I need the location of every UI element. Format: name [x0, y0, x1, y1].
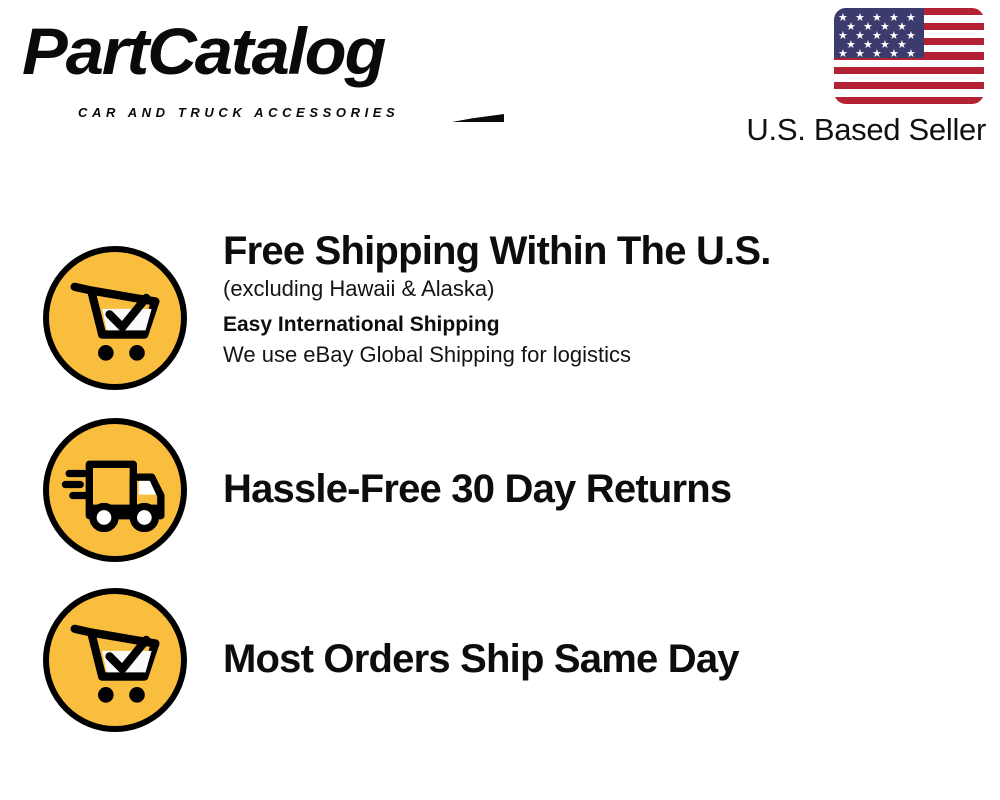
brand-logo-wordmark: PartCatalog: [22, 18, 511, 84]
us-flag-icon: ★ ★ ★ ★ ★ ★ ★ ★ ★ ★ ★ ★ ★ ★ ★ ★ ★: [834, 8, 984, 104]
feature-text-same-day-ship: Most Orders Ship Same Day: [223, 636, 983, 682]
brand-logo-tagline: CAR AND TRUCK ACCESSORIES: [78, 106, 399, 119]
feature-heading: Hassle-Free 30 Day Returns: [223, 466, 983, 512]
feature-text-returns: Hassle-Free 30 Day Returns: [223, 466, 983, 512]
brand-logo[interactable]: PartCatalog CAR AND TRUCK ACCESSORIES: [22, 18, 492, 118]
feature-item-returns: Hassle-Free 30 Day Returns: [0, 418, 1000, 570]
header: PartCatalog CAR AND TRUCK ACCESSORIES ★ …: [0, 0, 1000, 170]
feature-note: (excluding Hawaii & Alaska): [223, 274, 983, 304]
feature-subtext: We use eBay Global Shipping for logistic…: [223, 340, 983, 370]
us-based-seller-label: U.S. Based Seller: [746, 112, 986, 148]
shopping-cart-check-icon: [43, 588, 187, 732]
us-based-seller-badge: ★ ★ ★ ★ ★ ★ ★ ★ ★ ★ ★ ★ ★ ★ ★ ★ ★: [824, 8, 984, 104]
logo-swoosh-shape: [452, 114, 504, 122]
feature-item-same-day-ship: Most Orders Ship Same Day: [0, 588, 1000, 740]
feature-item-free-shipping: Free Shipping Within The U.S. (excluding…: [0, 228, 1000, 404]
delivery-truck-icon: [43, 418, 187, 562]
feature-text-free-shipping: Free Shipping Within The U.S. (excluding…: [223, 228, 983, 370]
flag-canton: ★ ★ ★ ★ ★ ★ ★ ★ ★ ★ ★ ★ ★ ★ ★ ★ ★: [834, 8, 924, 58]
promo-banner: PartCatalog CAR AND TRUCK ACCESSORIES ★ …: [0, 0, 1000, 800]
feature-heading: Free Shipping Within The U.S.: [223, 228, 983, 274]
shopping-cart-check-icon: [43, 246, 187, 390]
feature-heading: Most Orders Ship Same Day: [223, 636, 983, 682]
feature-subheading: Easy International Shipping: [223, 310, 983, 340]
